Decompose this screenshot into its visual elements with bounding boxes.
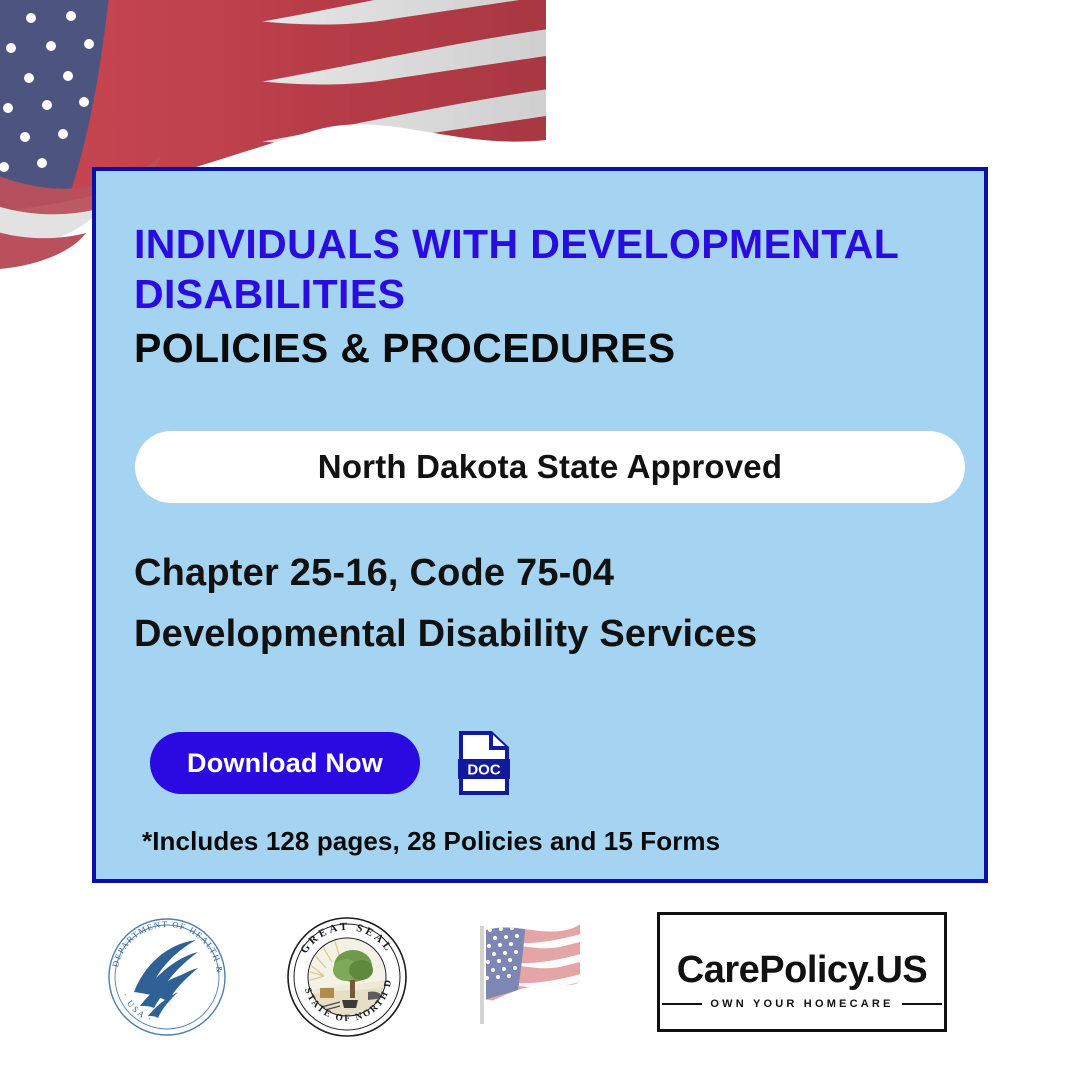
footnote-text: *Includes 128 pages, 28 Policies and 15 …: [142, 826, 720, 857]
us-flag-small-icon: [468, 912, 590, 1034]
download-row: Download Now DOC: [150, 731, 510, 795]
svg-text:DEPARTMENT OF HEALTH & HUMAN: DEPARTMENT OF HEALTH & HUMAN: [104, 914, 225, 978]
brand-tagline: OWN YOUR HOMECARE: [710, 998, 893, 1010]
brand-name: CarePolicy.US: [677, 949, 927, 992]
page-title-line2: DISABILITIES: [134, 269, 946, 319]
doc-file-icon[interactable]: DOC: [458, 731, 510, 795]
doc-icon-label: DOC: [467, 762, 501, 779]
north-dakota-state-seal-icon: GREAT SEAL STATE OF NORTH DAKOTA: [284, 914, 410, 1040]
status-badge: North Dakota State Approved: [135, 431, 965, 503]
tagline-rule-right: [902, 1003, 942, 1005]
title-block: INDIVIDUALS WITH DEVELOPMENTAL DISABILIT…: [96, 171, 984, 373]
hhs-seal-icon: DEPARTMENT OF HEALTH & HUMAN · USA ·: [104, 914, 230, 1040]
status-badge-label: North Dakota State Approved: [318, 448, 782, 486]
page-subtitle: POLICIES & PROCEDURES: [134, 323, 946, 373]
brand-tagline-row: OWN YOUR HOMECARE: [660, 998, 944, 1010]
download-now-button[interactable]: Download Now: [150, 732, 420, 794]
chapter-line-2: Developmental Disability Services: [134, 604, 954, 665]
tagline-rule-left: [662, 1003, 702, 1005]
chapter-block: Chapter 25-16, Code 75-04 Developmental …: [134, 543, 954, 665]
promo-card: INDIVIDUALS WITH DEVELOPMENTAL DISABILIT…: [92, 167, 988, 883]
chapter-line-1: Chapter 25-16, Code 75-04: [134, 543, 954, 604]
footer-logos: DEPARTMENT OF HEALTH & HUMAN · USA ·: [0, 900, 1080, 1050]
brand-logo: CarePolicy.US OWN YOUR HOMECARE: [657, 912, 947, 1032]
page-title-line1: INDIVIDUALS WITH DEVELOPMENTAL: [134, 219, 946, 269]
